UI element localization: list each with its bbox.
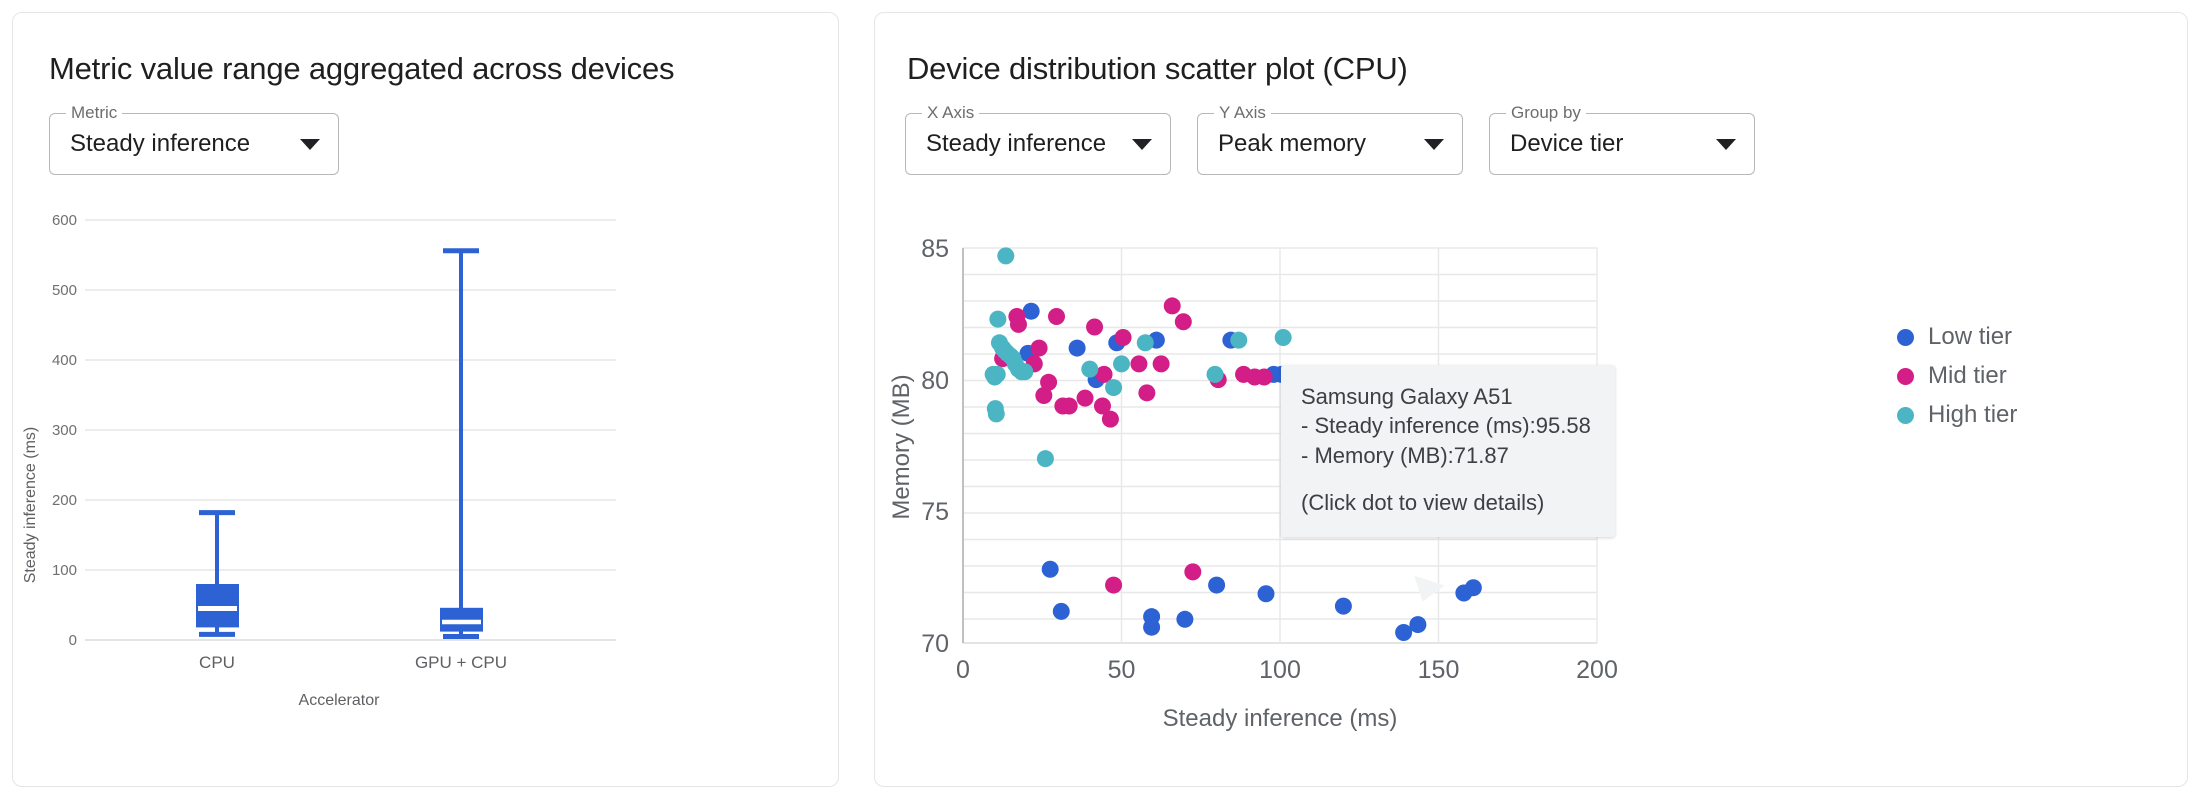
- scatter-dot[interactable]: [1077, 390, 1094, 407]
- svg-text:100: 100: [1259, 656, 1301, 684]
- svg-text:80: 80: [921, 367, 949, 395]
- metric-select[interactable]: Metric Steady inference: [49, 113, 339, 175]
- legend-label-mid-tier: Mid tier: [1928, 362, 2007, 390]
- scatter-dot[interactable]: [1275, 329, 1292, 346]
- group-by-select-value: Device tier: [1510, 130, 1690, 158]
- boxplot-x-ticks: CPU GPU + CPU: [199, 653, 507, 672]
- svg-text:100: 100: [52, 562, 77, 579]
- metric-select-label: Metric: [66, 103, 122, 123]
- boxplot-y-ticks: 600 500 400 300 200 100 0: [52, 212, 77, 649]
- scatter-dot[interactable]: [1256, 369, 1273, 386]
- page-title-scatter: Device distribution scatter plot (CPU): [875, 13, 2187, 87]
- chevron-down-icon: [1716, 139, 1736, 150]
- scatter-dot[interactable]: [1115, 329, 1132, 346]
- scatter-y-axis-title: Memory (MB): [888, 374, 915, 519]
- svg-text:400: 400: [52, 352, 77, 369]
- metric-select-value: Steady inference: [70, 130, 274, 158]
- scatter-x-axis-title: Steady inference (ms): [1163, 705, 1398, 732]
- scatter-dot[interactable]: [1335, 598, 1352, 615]
- svg-text:50: 50: [1108, 656, 1136, 684]
- y-axis-select[interactable]: Y Axis Peak memory: [1197, 113, 1463, 175]
- scatter-dot[interactable]: [1176, 611, 1193, 628]
- scatter-dot[interactable]: [1184, 563, 1201, 580]
- legend-item-mid-tier[interactable]: Mid tier: [1897, 362, 2017, 390]
- dashboard-root: Metric value range aggregated across dev…: [0, 0, 2200, 808]
- tooltip-x-value: - Steady inference (ms):95.58: [1301, 411, 1595, 440]
- svg-text:150: 150: [1418, 656, 1460, 684]
- svg-text:70: 70: [921, 630, 949, 658]
- scatter-dot[interactable]: [1175, 313, 1192, 330]
- scatter-controls: X Axis Steady inference Y Axis Peak memo…: [875, 87, 2187, 175]
- tooltip-hint: (Click dot to view details): [1301, 488, 1595, 517]
- scatter-dot[interactable]: [1037, 450, 1054, 467]
- scatter-legend: Low tier Mid tier High tier: [1897, 323, 2017, 429]
- scatter-dot[interactable]: [1395, 624, 1412, 641]
- group-by-select[interactable]: Group by Device tier: [1489, 113, 1755, 175]
- group-by-select-label: Group by: [1506, 103, 1586, 123]
- metric-range-card: Metric value range aggregated across dev…: [12, 12, 839, 787]
- chevron-down-icon: [300, 139, 320, 150]
- scatter-dot[interactable]: [1143, 619, 1160, 636]
- scatter-dot[interactable]: [1208, 577, 1225, 594]
- x-axis-select-label: X Axis: [922, 103, 979, 123]
- scatter-dot[interactable]: [1069, 340, 1086, 357]
- tooltip-y-value: - Memory (MB):71.87: [1301, 441, 1595, 470]
- scatter-tooltip: Samsung Galaxy A51 - Steady inference (m…: [1281, 365, 1615, 537]
- scatter-dot[interactable]: [1081, 361, 1098, 378]
- scatter-dot[interactable]: [1409, 616, 1426, 633]
- scatter-dot[interactable]: [1465, 579, 1482, 596]
- boxplot-y-axis-title: Steady inference (ms): [22, 427, 39, 584]
- x-axis-select-value: Steady inference: [926, 130, 1106, 158]
- svg-text:300: 300: [52, 422, 77, 439]
- scatter-dot[interactable]: [988, 405, 1005, 422]
- tooltip-spacer: [1301, 470, 1595, 488]
- y-axis-select-label: Y Axis: [1214, 103, 1271, 123]
- scatter-dot[interactable]: [1130, 355, 1147, 372]
- boxplot-chart: 600 500 400 300 200 100 0 Steady inferen…: [13, 175, 840, 735]
- chevron-down-icon: [1132, 139, 1152, 150]
- scatter-plot-card: Device distribution scatter plot (CPU) X…: [874, 12, 2188, 787]
- svg-text:0: 0: [956, 656, 970, 684]
- boxplot-x-axis-title: Accelerator: [299, 692, 381, 709]
- scatter-chart: 85 80 75 70 Memory (MB) 0 50 100 150 200…: [875, 175, 2189, 775]
- scatter-dot[interactable]: [1053, 603, 1070, 620]
- boxplot-svg: 600 500 400 300 200 100 0 Steady inferen…: [13, 175, 840, 735]
- scatter-dot[interactable]: [1061, 398, 1078, 415]
- x-axis-select[interactable]: X Axis Steady inference: [905, 113, 1171, 175]
- svg-text:200: 200: [1576, 656, 1618, 684]
- svg-text:500: 500: [52, 282, 77, 299]
- scatter-dot[interactable]: [1042, 561, 1059, 578]
- boxplot-box-gpu-cpu: [440, 251, 483, 637]
- scatter-dot[interactable]: [1016, 363, 1033, 380]
- scatter-dot[interactable]: [1153, 355, 1170, 372]
- legend-dot-low-tier: [1897, 329, 1914, 346]
- tooltip-device-name: Samsung Galaxy A51: [1301, 382, 1595, 411]
- scatter-dot[interactable]: [1164, 297, 1181, 314]
- scatter-dot[interactable]: [1207, 366, 1224, 383]
- svg-text:600: 600: [52, 212, 77, 229]
- legend-dot-mid-tier: [1897, 368, 1914, 385]
- scatter-dot[interactable]: [989, 311, 1006, 328]
- metric-controls: Metric Steady inference: [13, 87, 838, 175]
- legend-label-low-tier: Low tier: [1928, 323, 2012, 351]
- scatter-dot[interactable]: [1086, 319, 1103, 336]
- chevron-down-icon: [1424, 139, 1444, 150]
- scatter-dot[interactable]: [1040, 374, 1057, 391]
- scatter-dot[interactable]: [1257, 585, 1274, 602]
- scatter-dot[interactable]: [1094, 398, 1111, 415]
- scatter-dot[interactable]: [1010, 316, 1027, 333]
- svg-text:0: 0: [69, 632, 77, 649]
- scatter-dot[interactable]: [1137, 334, 1154, 351]
- scatter-dot[interactable]: [1048, 308, 1065, 325]
- legend-item-high-tier[interactable]: High tier: [1897, 401, 2017, 429]
- page-title-metric-range: Metric value range aggregated across dev…: [13, 13, 838, 87]
- svg-text:85: 85: [921, 235, 949, 263]
- svg-text:GPU + CPU: GPU + CPU: [415, 653, 507, 672]
- scatter-dot[interactable]: [997, 247, 1014, 264]
- legend-dot-high-tier: [1897, 407, 1914, 424]
- scatter-y-ticks: 85 80 75 70: [921, 235, 949, 658]
- boxplot-box-cpu: [196, 513, 239, 635]
- legend-item-low-tier[interactable]: Low tier: [1897, 323, 2017, 351]
- boxplot-gridlines: [85, 220, 616, 640]
- scatter-dot[interactable]: [1138, 384, 1155, 401]
- svg-text:200: 200: [52, 492, 77, 509]
- y-axis-select-value: Peak memory: [1218, 130, 1398, 158]
- scatter-dot[interactable]: [1105, 379, 1122, 396]
- legend-label-high-tier: High tier: [1928, 401, 2017, 429]
- svg-text:CPU: CPU: [199, 653, 235, 672]
- scatter-dot[interactable]: [1113, 355, 1130, 372]
- svg-text:75: 75: [921, 498, 949, 526]
- scatter-x-ticks: 0 50 100 150 200: [956, 656, 1618, 684]
- scatter-dot[interactable]: [1031, 340, 1048, 357]
- scatter-dot[interactable]: [1105, 577, 1122, 594]
- scatter-dot[interactable]: [989, 366, 1006, 383]
- scatter-dot[interactable]: [1230, 332, 1247, 349]
